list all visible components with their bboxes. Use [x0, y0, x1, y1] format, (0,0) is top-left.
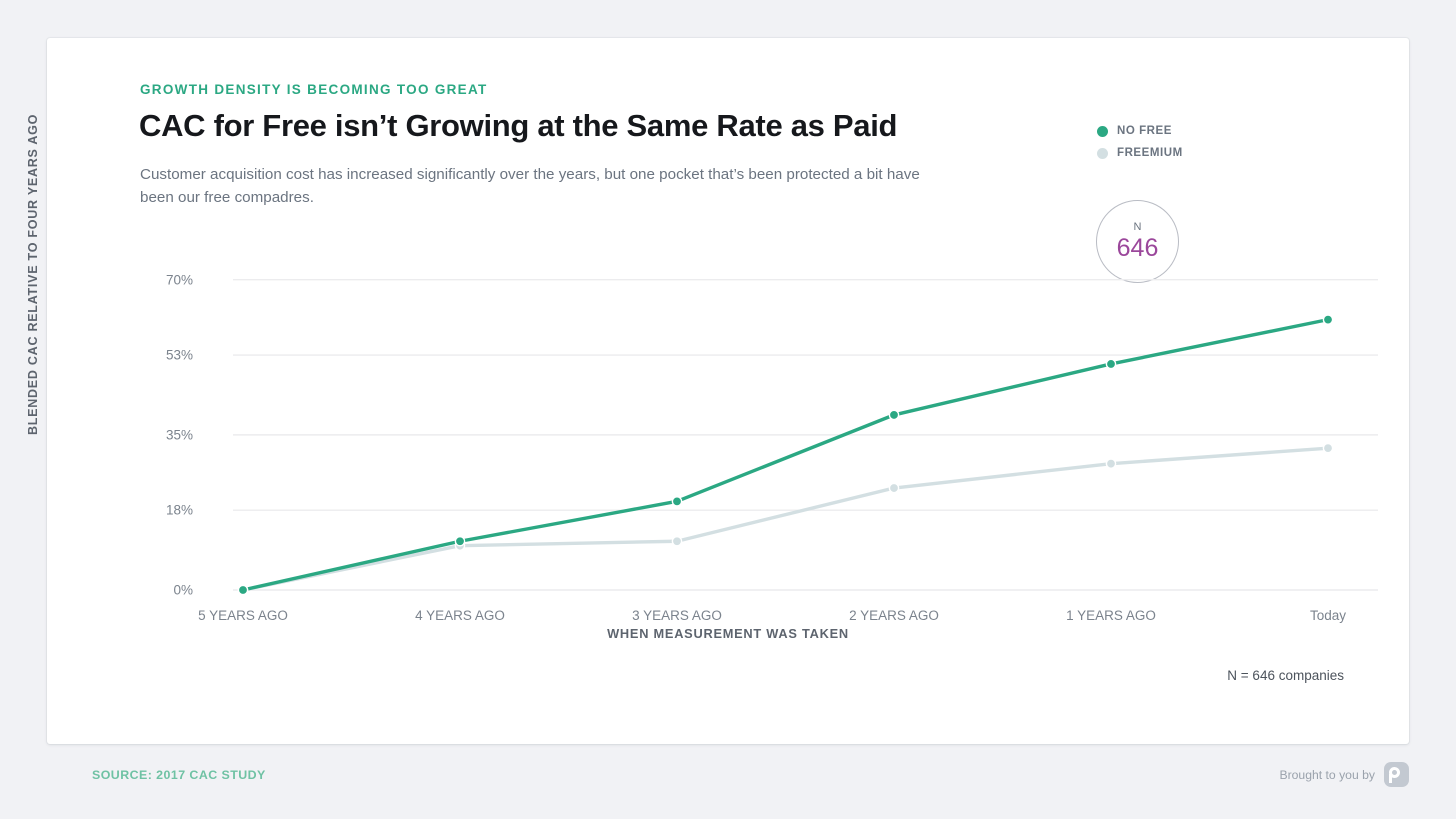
line-chart-plot: BLENDED CAC RELATIVE TO FOUR YEARS AGO W… — [47, 38, 1409, 744]
y-axis-tick-label: 53% — [147, 348, 193, 363]
sample-size-note: N = 646 companies — [1227, 668, 1344, 683]
chart-card: GROWTH DENSITY IS BECOMING TOO GREAT CAC… — [47, 38, 1409, 744]
x-axis-tick-label: 3 YEARS AGO — [632, 608, 722, 623]
product-logo-icon[interactable] — [1384, 762, 1409, 787]
attribution: Brought to you by — [1279, 762, 1409, 787]
x-axis-title: WHEN MEASUREMENT WAS TAKEN — [47, 626, 1409, 641]
y-axis-tick-label: 0% — [147, 583, 193, 598]
x-axis-tick-label: 2 YEARS AGO — [849, 608, 939, 623]
x-axis-tick-label: 4 YEARS AGO — [415, 608, 505, 623]
x-axis-tick-label: 5 YEARS AGO — [198, 608, 288, 623]
y-axis-title: BLENDED CAC RELATIVE TO FOUR YEARS AGO — [26, 114, 40, 435]
x-axis-tick-label: 1 YEARS AGO — [1066, 608, 1156, 623]
y-axis-tick-label: 35% — [147, 427, 193, 442]
y-axis-tick-label: 18% — [147, 503, 193, 518]
y-axis-tick-label: 70% — [147, 272, 193, 287]
attribution-text: Brought to you by — [1279, 768, 1375, 782]
logo-stem — [1389, 774, 1392, 783]
source-note: SOURCE: 2017 CAC STUDY — [92, 768, 266, 782]
x-axis-tick-label: Today — [1310, 608, 1346, 623]
